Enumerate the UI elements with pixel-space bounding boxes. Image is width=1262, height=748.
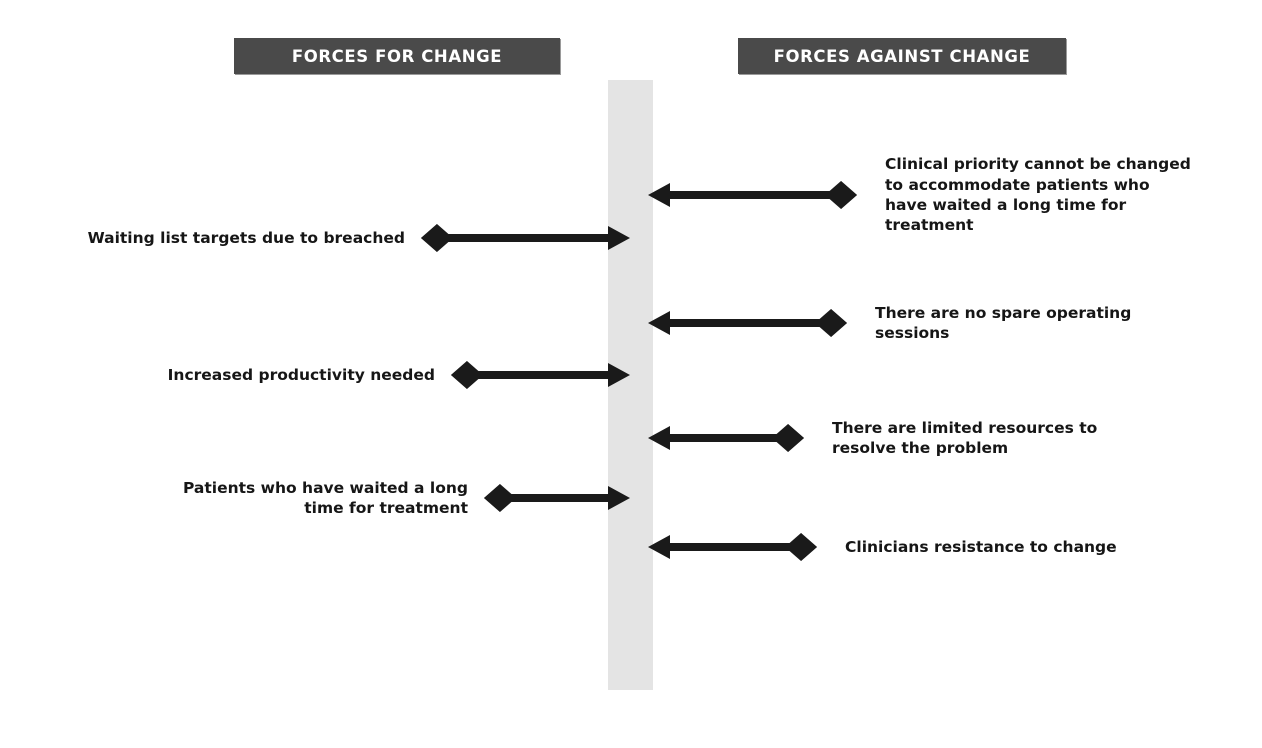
forces-against-change-header: FORCES AGAINST CHANGE [738, 38, 1066, 74]
arrow-left-icon [648, 530, 833, 564]
arrow-right-icon [415, 221, 630, 255]
force-row-for-2: Increased productivity needed [40, 352, 630, 398]
arrow-left-icon [648, 306, 863, 340]
arrow-left-icon [648, 178, 873, 212]
force-label-against-2: There are no spare operating sessions [863, 303, 1131, 343]
force-label-for-2: Increased productivity needed [168, 365, 445, 385]
force-row-against-2: There are no spare operating sessions [648, 292, 1248, 354]
force-row-against-4: Clinicians resistance to change [648, 524, 1248, 570]
force-label-for-3: Patients who have waited a long time for… [183, 478, 478, 518]
force-label-for-1: Waiting list targets due to breached [88, 228, 415, 248]
force-label-against-3: There are limited resources to resolve t… [820, 418, 1097, 458]
arrow-right-icon [478, 481, 630, 515]
force-row-for-3: Patients who have waited a long time for… [80, 469, 630, 527]
force-field-diagram: FORCES FOR CHANGE FORCES AGAINST CHANGE … [0, 0, 1262, 748]
forces-for-change-header: FORCES FOR CHANGE [234, 38, 560, 74]
arrow-right-icon [445, 358, 630, 392]
force-label-against-1: Clinical priority cannot be changed to a… [873, 154, 1191, 236]
arrow-left-icon [648, 421, 820, 455]
force-row-against-1: Clinical priority cannot be changed to a… [648, 140, 1248, 250]
force-label-against-4: Clinicians resistance to change [833, 537, 1117, 557]
force-row-for-1: Waiting list targets due to breached [10, 215, 630, 261]
force-row-against-3: There are limited resources to resolve t… [648, 409, 1248, 467]
